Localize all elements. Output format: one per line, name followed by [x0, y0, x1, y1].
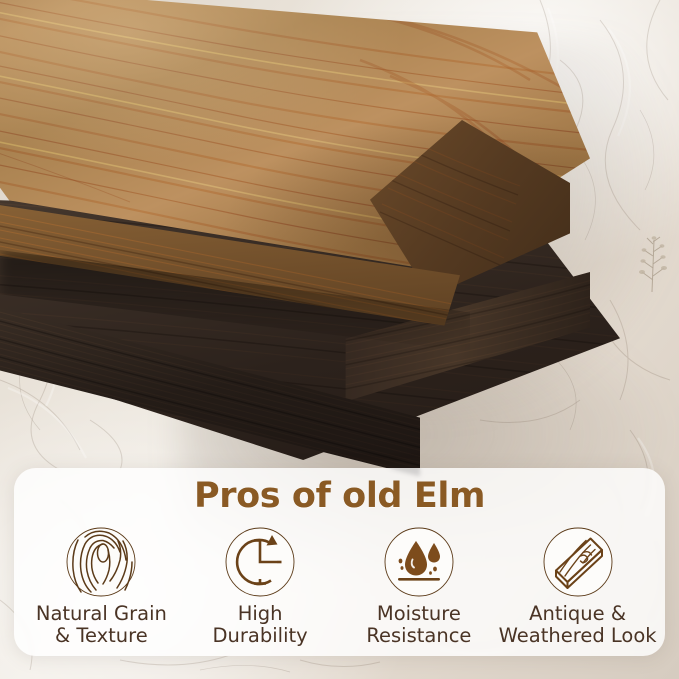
feature-label: Moisture Resistance [366, 603, 471, 647]
product-image-scene: Pros of old Elm [0, 0, 679, 679]
water-droplet-icon [383, 526, 455, 598]
feature-label: High Durability [213, 603, 308, 647]
wood-grain-icon [65, 526, 137, 598]
feature-list: Natural Grain & Texture [22, 526, 657, 647]
clock-durability-icon [224, 526, 296, 598]
feature-label: Natural Grain & Texture [36, 603, 167, 647]
feature-high-durability[interactable]: High Durability [181, 526, 340, 647]
pros-info-card: Pros of old Elm [14, 468, 665, 656]
feature-natural-grain[interactable]: Natural Grain & Texture [22, 526, 181, 647]
feature-antique-weathered[interactable]: Antique & Weathered Look [498, 526, 657, 647]
dried-sprig-icon [630, 232, 676, 294]
feature-moisture-resistance[interactable]: Moisture Resistance [340, 526, 499, 647]
wood-plank-icon [542, 526, 614, 598]
card-title: Pros of old Elm [14, 476, 665, 516]
feature-label: Antique & Weathered Look [499, 603, 657, 647]
